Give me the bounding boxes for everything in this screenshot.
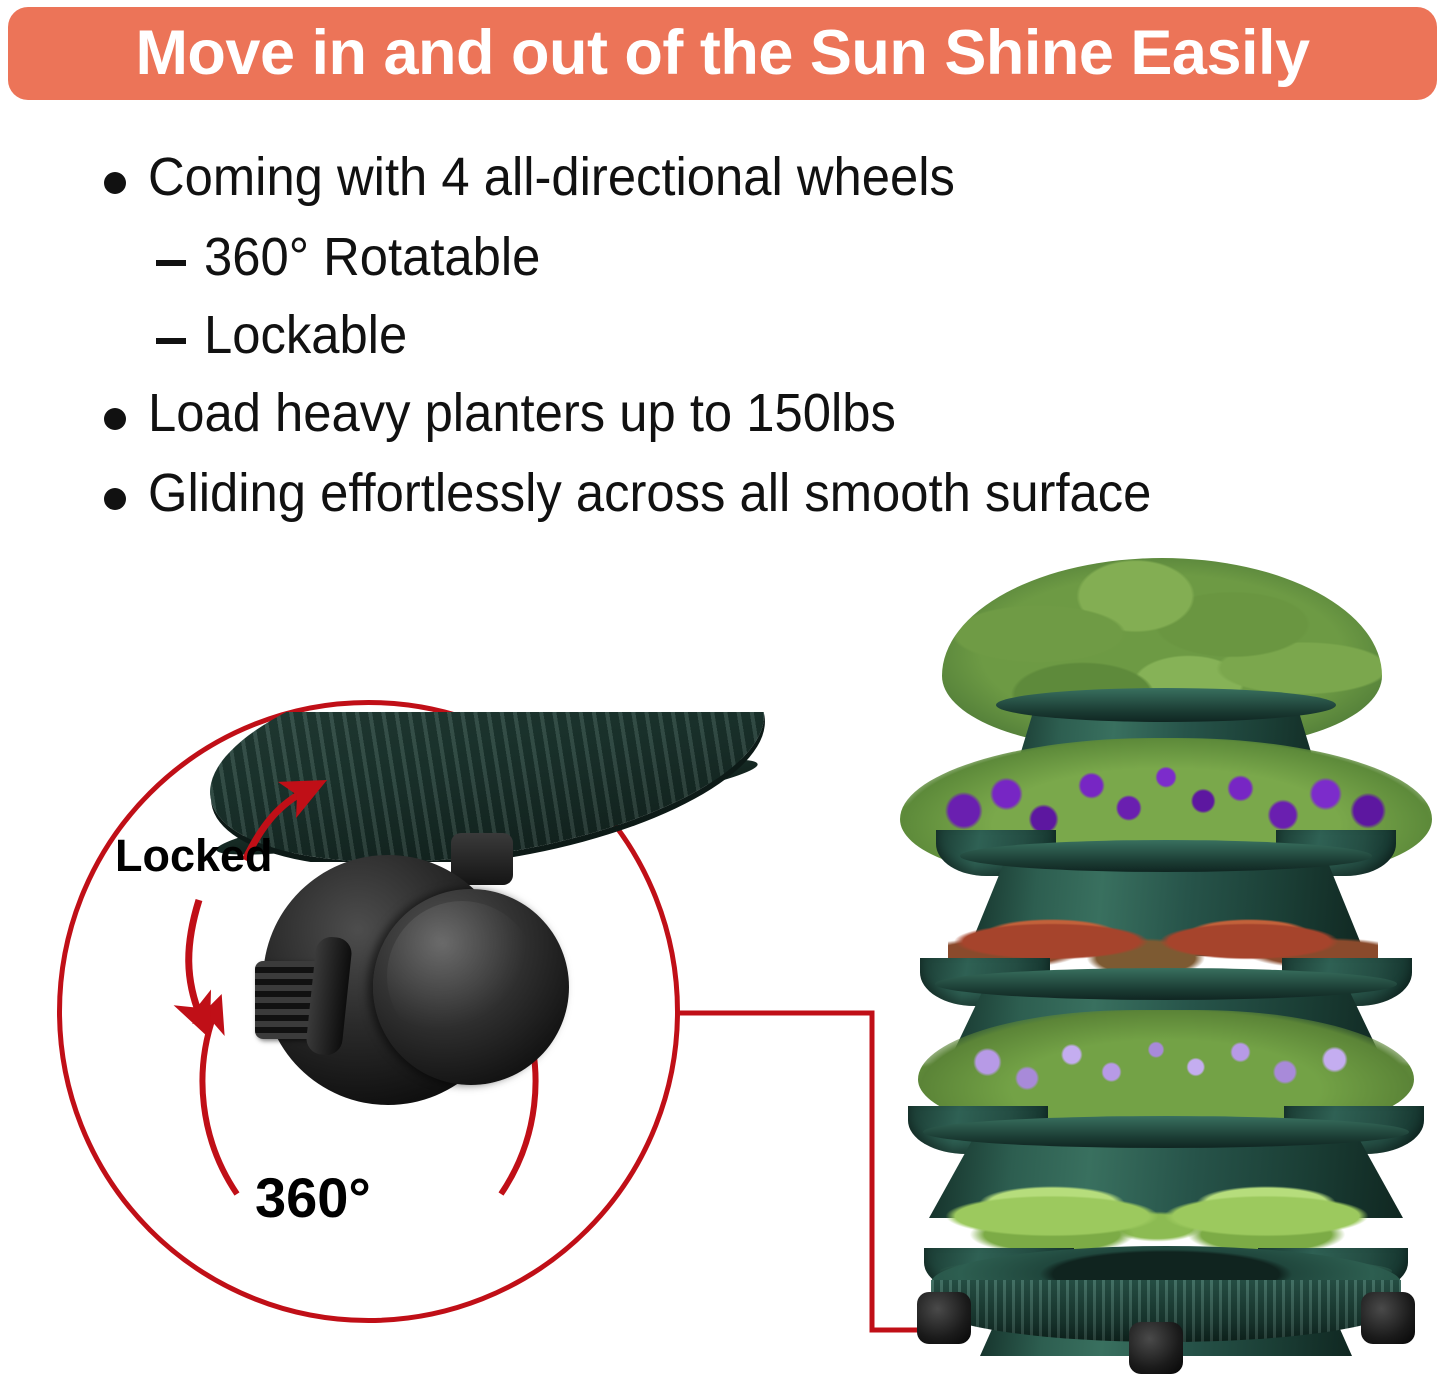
tier-rim-4	[923, 1116, 1409, 1148]
feature-list: Coming with 4 all-directional wheels 360…	[104, 150, 1434, 546]
list-item-label: Load heavy planters up to 150lbs	[148, 386, 896, 440]
planter-tower	[890, 558, 1442, 1376]
header-banner: Move in and out of the Sun Shine Easily	[8, 7, 1437, 100]
caster-wheel-disc	[373, 889, 569, 1085]
list-item: Load heavy planters up to 150lbs	[104, 386, 1434, 440]
tier-rim-2	[960, 840, 1372, 872]
rolling-caddy-base	[931, 1246, 1401, 1358]
rotation-label: 360°	[255, 1165, 371, 1230]
list-item: Gliding effortlessly across all smooth s…	[104, 466, 1434, 520]
bullet-dot-icon	[104, 172, 126, 194]
list-item-label: Coming with 4 all-directional wheels	[148, 150, 955, 204]
caddy-caster-front	[1129, 1322, 1183, 1374]
bullet-dot-icon	[104, 488, 126, 510]
list-item-label: 360° Rotatable	[204, 230, 540, 284]
dash-icon	[156, 338, 186, 344]
list-item-label: Lockable	[204, 308, 407, 362]
locked-label: Locked	[115, 830, 273, 882]
caddy-caster-right	[1361, 1292, 1415, 1344]
list-item: Coming with 4 all-directional wheels	[104, 150, 1434, 204]
bullet-dot-icon	[104, 408, 126, 430]
list-item: Lockable	[156, 308, 1434, 362]
tier-rim-1	[996, 688, 1336, 722]
caddy-caster-left	[917, 1292, 971, 1344]
header-title: Move in and out of the Sun Shine Easily	[135, 22, 1309, 85]
tier-rim-3	[935, 968, 1397, 1000]
caster-wheel	[255, 833, 585, 1123]
list-item: 360° Rotatable	[156, 230, 1434, 284]
list-item-label: Gliding effortlessly across all smooth s…	[148, 466, 1151, 520]
dash-icon	[156, 260, 186, 266]
